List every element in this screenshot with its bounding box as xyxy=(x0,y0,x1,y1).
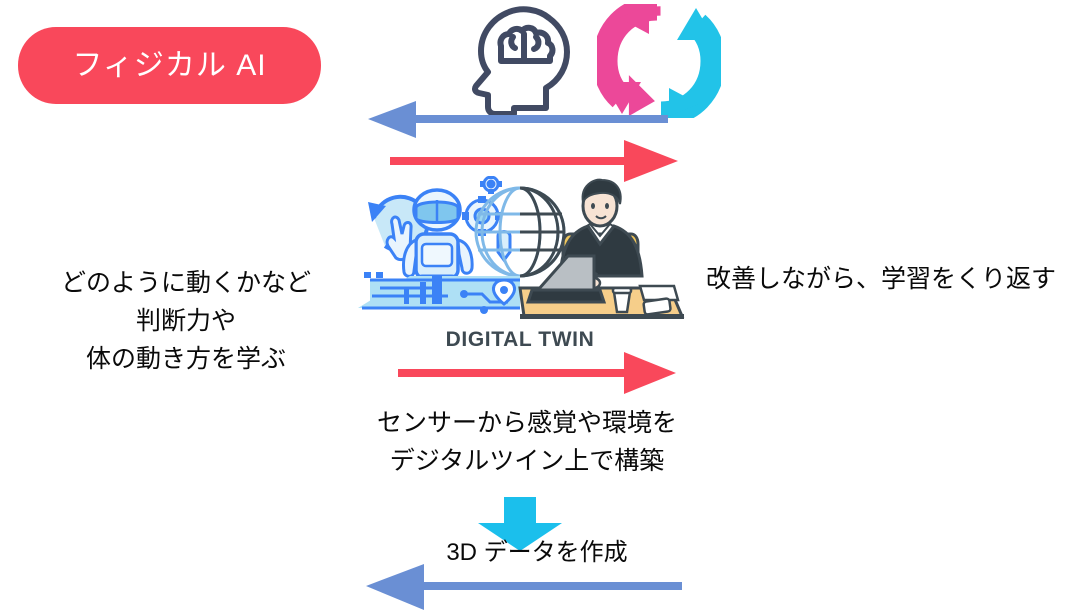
left-caption-line-2: 判断力や xyxy=(28,302,344,340)
diagram-canvas: フィジカル AI xyxy=(0,0,1090,612)
digital-twin-label: DIGITAL TWIN xyxy=(352,328,688,352)
left-caption: どのように動くかなど 判断力や 体の動き方を学ぶ xyxy=(28,264,344,378)
arrow-left-top xyxy=(368,101,668,139)
left-caption-line-1: どのように動くかなど xyxy=(28,264,344,302)
sensor-caption-line-1: センサーから感覚や環境を xyxy=(362,404,692,442)
right-caption-line-1: 改善しながら、学習をくり返す xyxy=(706,260,1078,298)
sensor-caption: センサーから感覚や環境を デジタルツイン上で構築 xyxy=(362,404,692,480)
physical-ai-badge: フィジカル AI xyxy=(18,27,321,104)
digital-twin-illustration xyxy=(352,176,688,329)
physical-ai-badge-label: フィジカル AI xyxy=(72,51,266,81)
person-at-desk-with-laptop xyxy=(520,180,684,319)
arrow-left-bottom xyxy=(366,564,682,610)
right-caption: 改善しながら、学習をくり返す xyxy=(706,260,1078,298)
sensor-caption-line-2: デジタルツイン上で構築 xyxy=(362,442,692,480)
left-caption-line-3: 体の動き方を学ぶ xyxy=(28,340,344,378)
arrow-right-mid xyxy=(398,352,676,394)
